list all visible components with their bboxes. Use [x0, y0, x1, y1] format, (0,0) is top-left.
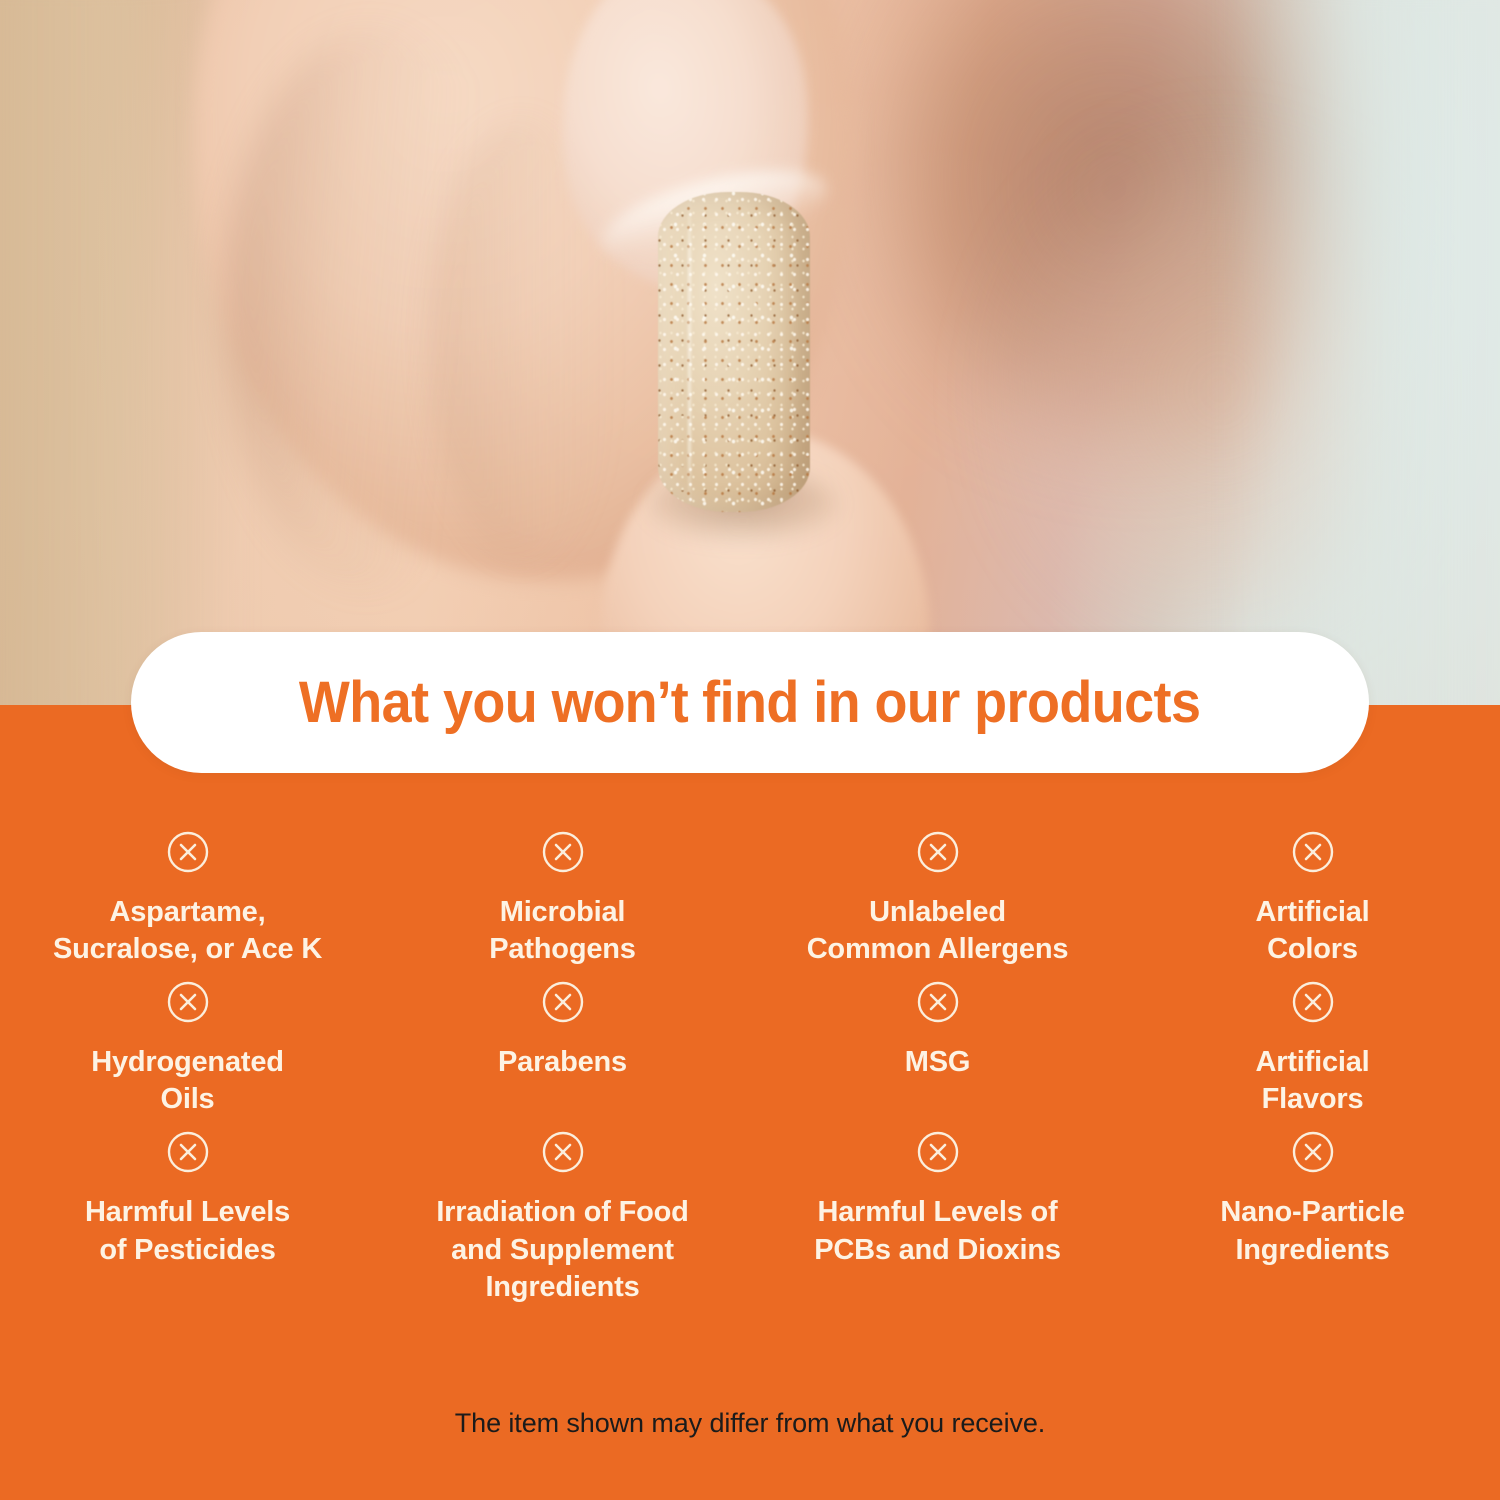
exclusion-label: Harmful Levels of Pesticides [85, 1194, 290, 1268]
headline-card: What you won’t find in our products [131, 632, 1369, 773]
page-title: What you won’t find in our products [299, 674, 1200, 732]
disclaimer-text: The item shown may differ from what you … [455, 1408, 1045, 1438]
exclusion-item: Unlabeled Common Allergens [750, 818, 1125, 968]
circle-x-icon [541, 830, 585, 874]
photo-soft-focus-veil [0, 0, 1500, 712]
circle-x-icon [1291, 980, 1335, 1024]
exclusion-label: Unlabeled Common Allergens [807, 894, 1069, 968]
circle-x-icon [541, 1130, 585, 1174]
exclusion-item: Microbial Pathogens [375, 818, 750, 968]
circle-x-icon [916, 980, 960, 1024]
footer: The item shown may differ from what you … [0, 1408, 1500, 1439]
circle-x-icon [166, 980, 210, 1024]
hero-product-photo [0, 0, 1500, 712]
exclusion-item: Harmful Levels of PCBs and Dioxins [750, 1118, 1125, 1305]
headline-emphasis: won’t [552, 670, 688, 735]
exclusion-item: Parabens [375, 968, 750, 1118]
exclusion-label: Microbial Pathogens [489, 894, 635, 968]
exclusion-label: Irradiation of Food and Supplement Ingre… [436, 1194, 688, 1305]
circle-x-icon [1291, 830, 1335, 874]
circle-x-icon [166, 1130, 210, 1174]
exclusion-label: Hydrogenated Oils [91, 1044, 284, 1118]
exclusion-label: Parabens [498, 1044, 627, 1081]
exclusion-item: Hydrogenated Oils [0, 968, 375, 1118]
exclusions-grid: Aspartame, Sucralose, or Ace K Microbial… [0, 818, 1500, 1306]
headline-text-before: What you [299, 670, 552, 735]
headline-text-after: find in our products [688, 670, 1201, 735]
exclusion-item: Nano-Particle Ingredients [1125, 1118, 1500, 1305]
exclusion-label: MSG [905, 1044, 970, 1081]
circle-x-icon [1291, 1130, 1335, 1174]
circle-x-icon [541, 980, 585, 1024]
circle-x-icon [916, 830, 960, 874]
circle-x-icon [916, 1130, 960, 1174]
circle-x-icon [166, 830, 210, 874]
exclusion-label: Artificial Flavors [1255, 1044, 1369, 1118]
exclusion-label: Artificial Colors [1255, 894, 1369, 968]
exclusion-label: Aspartame, Sucralose, or Ace K [53, 894, 322, 968]
exclusion-label: Harmful Levels of PCBs and Dioxins [814, 1194, 1061, 1268]
exclusion-label: Nano-Particle Ingredients [1220, 1194, 1404, 1268]
exclusion-item: MSG [750, 968, 1125, 1118]
exclusion-item: Artificial Flavors [1125, 968, 1500, 1118]
exclusion-item: Harmful Levels of Pesticides [0, 1118, 375, 1305]
exclusion-item: Artificial Colors [1125, 818, 1500, 968]
exclusion-item: Aspartame, Sucralose, or Ace K [0, 818, 375, 968]
exclusion-item: Irradiation of Food and Supplement Ingre… [375, 1118, 750, 1305]
infographic-canvas: What you won’t find in our products Aspa… [0, 0, 1500, 1500]
